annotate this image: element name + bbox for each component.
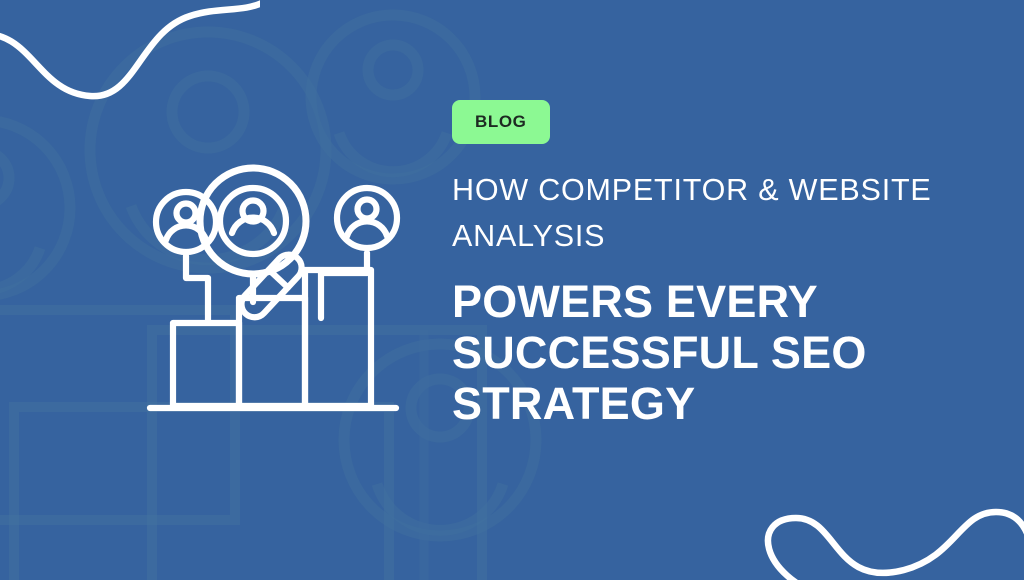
squiggle-decoration-bottom-right: [734, 468, 1024, 580]
connector-line-right: [321, 253, 367, 318]
blog-banner: BLOG HOW COMPETITOR & WEBSITE ANALYSIS P…: [0, 0, 1024, 580]
bar-short: [173, 323, 239, 406]
ghost-avatar-icon: [311, 15, 475, 179]
text-content-block: BLOG HOW COMPETITOR & WEBSITE ANALYSIS P…: [452, 100, 972, 430]
bar-tall: [305, 270, 371, 406]
blog-category-badge[interactable]: BLOG: [452, 100, 550, 144]
magnifier-handle: [236, 249, 307, 322]
page-title: POWERS EVERY SUCCESSFUL SEO STRATEGY: [452, 276, 932, 430]
subtitle-text: HOW COMPETITOR & WEBSITE ANALYSIS: [452, 167, 957, 260]
connector-line-left: [186, 256, 208, 320]
person-avatar-icon-right: [337, 188, 397, 248]
ghost-avatar-icon: [0, 120, 70, 296]
seo-analysis-illustration: [140, 160, 415, 425]
